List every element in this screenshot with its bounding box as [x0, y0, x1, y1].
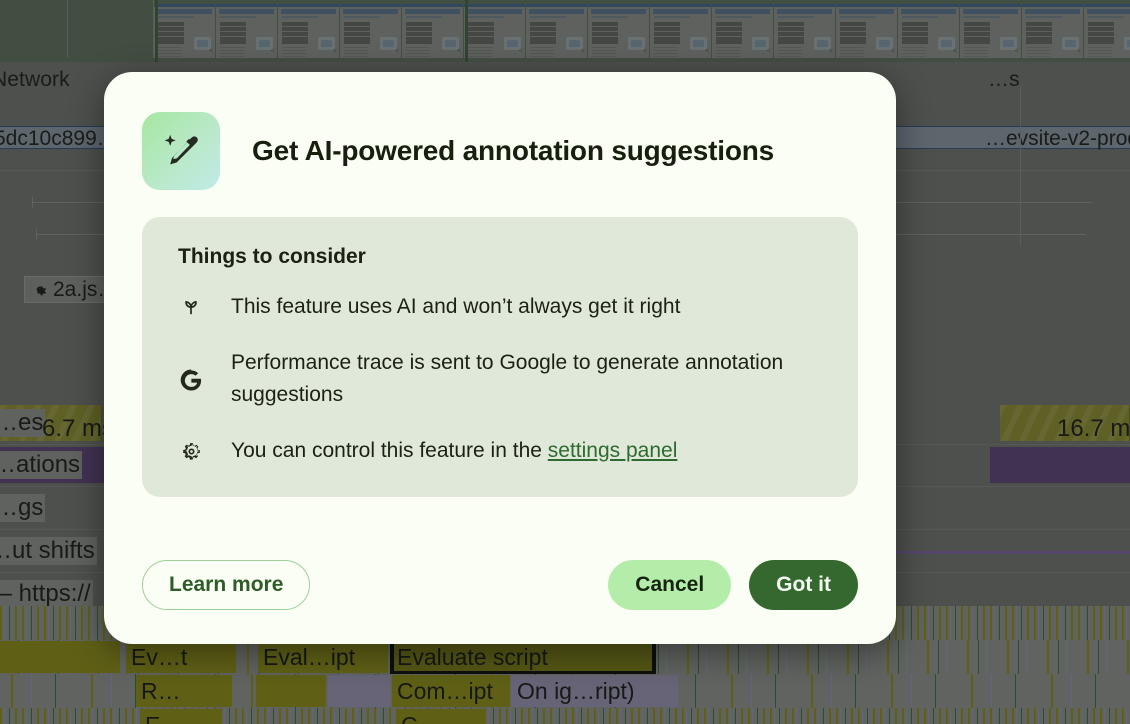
consider-item: This feature uses AI and won’t always ge…	[178, 291, 822, 323]
sprout-icon	[178, 291, 204, 317]
consider-item-text: This feature uses AI and won’t always ge…	[231, 291, 680, 323]
got-it-button[interactable]: Got it	[749, 560, 858, 610]
google-g-icon	[178, 365, 204, 393]
cancel-button[interactable]: Cancel	[608, 560, 731, 610]
consider-item-text: Performance trace is sent to Google to g…	[231, 347, 822, 411]
learn-more-button[interactable]: Learn more	[142, 560, 310, 610]
consider-item-text: You can control this feature in the sett…	[231, 435, 677, 467]
dialog-actions: Learn more Cancel Got it	[142, 560, 858, 644]
things-to-consider-card: Things to consider This feature uses AI …	[142, 217, 858, 497]
card-heading: Things to consider	[178, 245, 822, 269]
consider-item: You can control this feature in the sett…	[178, 435, 822, 467]
settings-panel-link[interactable]: settings panel	[548, 439, 678, 462]
dialog-title: Get AI-powered annotation suggestions	[252, 135, 774, 167]
dialog-header: Get AI-powered annotation suggestions	[142, 112, 858, 190]
ai-magic-wand-icon	[142, 112, 220, 190]
ai-magic-wand-glyph	[159, 129, 203, 173]
ai-annotation-suggestions-dialog: Get AI-powered annotation suggestions Th…	[104, 72, 896, 644]
gear-icon	[178, 437, 204, 464]
consider-item-text-prefix: You can control this feature in the	[231, 439, 548, 462]
consider-item: Performance trace is sent to Google to g…	[178, 347, 822, 411]
